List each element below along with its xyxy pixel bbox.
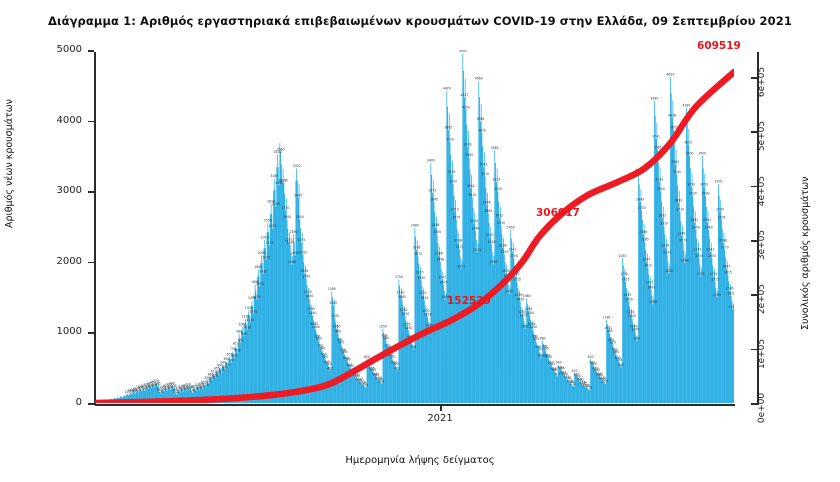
cumulative-cases-line [95,72,734,403]
y-tick-mark-left [88,262,94,264]
y-tick-label-right: 2e+05 [757,284,767,314]
y-axis-left-title: Αριθμός νέων κρουσμάτων [4,99,15,228]
y-tick-label-left: 2000 [36,256,82,267]
y-axis-right-title: Συνολικός αριθμός κρουσμάτων [800,177,811,330]
y-tick-label-right: 0e+00 [757,393,767,423]
y-tick-mark-left [88,121,94,123]
y-tick-label-right: 3e+05 [757,230,767,260]
y-tick-mark-left [88,332,94,334]
chart-figure: Διάγραμμα 1: Αριθμός εργαστηριακά επιβεβ… [0,0,840,482]
y-tick-label-left: 3000 [36,185,82,196]
y-tick-label-right: 6e+05 [757,67,767,97]
y-tick-mark-left [88,403,94,405]
plot-area: 1251421261601351751521951702051782281982… [95,50,734,403]
annotation-midpoint-1: 152529 [447,295,491,307]
y-tick-label-right: 1e+05 [757,339,767,369]
cumulative-line-layer [95,50,734,403]
y-tick-label-right: 5e+05 [757,121,767,151]
annotation-total-cases: 609519 [697,40,741,52]
y-tick-label-left: 4000 [36,115,82,126]
chart-title: Διάγραμμα 1: Αριθμός εργαστηριακά επιβεβ… [0,14,840,28]
x-axis-title: Ημερομηνία λήψης δείγματος [0,455,840,466]
y-tick-mark-left [88,50,94,52]
y-tick-label-left: 0 [36,397,82,408]
y-tick-label-right: 4e+05 [757,176,767,206]
annotation-midpoint-2: 306017 [536,207,580,219]
x-tick-mark [440,405,442,411]
y-tick-label-left: 5000 [36,44,82,55]
x-axis-line [95,404,735,406]
y-tick-label-left: 1000 [36,326,82,337]
x-tick-label: 2021 [427,413,452,424]
y-tick-mark-left [88,191,94,193]
